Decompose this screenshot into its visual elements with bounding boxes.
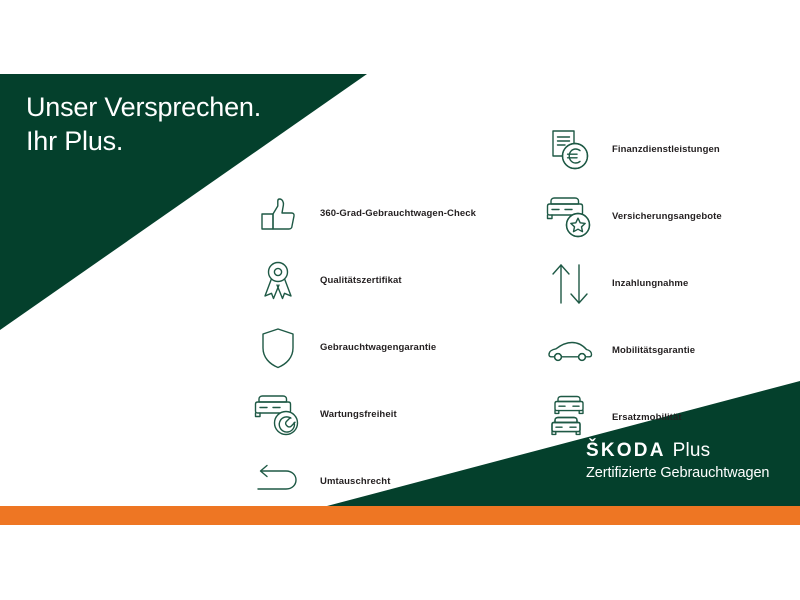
car-star-icon xyxy=(540,193,600,241)
benefit-item: Wartungsfreiheit xyxy=(248,381,476,448)
benefit-label: 360-Grad-Gebrauchtwagen-Check xyxy=(320,208,476,219)
page-title: Unser Versprechen. Ihr Plus. xyxy=(26,90,356,158)
benefit-label: Finanzdienstleistungen xyxy=(612,144,720,155)
skoda-plus-logo: ŠKODA Plus Zertifizierte Gebrauchtwagen xyxy=(586,440,786,481)
return-arrow-icon xyxy=(248,458,308,506)
benefit-item: Finanzdienstleistungen xyxy=(540,116,722,183)
benefit-label: Mobilitätsgarantie xyxy=(612,345,695,356)
car-wrench-icon xyxy=(248,391,308,439)
benefit-label: Wartungsfreiheit xyxy=(320,409,397,420)
shield-icon xyxy=(248,324,308,372)
benefit-label: Versicherungsangebote xyxy=(612,211,722,222)
benefit-label: Qualitätszertifikat xyxy=(320,275,402,286)
logo-suffix: Plus xyxy=(673,440,711,462)
benefit-item: Mobilitätsgarantie xyxy=(540,317,722,384)
benefit-item: Versicherungsangebote xyxy=(540,183,722,250)
benefit-item: Inzahlungnahme xyxy=(540,250,722,317)
benefits-left-column: 360-Grad-Gebrauchtwagen-Check Qualitätsz… xyxy=(248,180,476,515)
logo-tagline: Zertifizierte Gebrauchtwagen xyxy=(586,465,786,481)
headline-line-1: Unser Versprechen. xyxy=(26,90,356,124)
benefit-item: Umtauschrecht xyxy=(248,448,476,515)
two-cars-icon xyxy=(540,394,600,442)
document-euro-icon xyxy=(540,126,600,174)
benefit-label: Gebrauchtwagengarantie xyxy=(320,342,436,353)
benefit-label: Ersatzmobilität xyxy=(612,412,682,423)
benefits-right-column: Finanzdienstleistungen Versicherungsange… xyxy=(540,116,722,451)
benefit-label: Inzahlungnahme xyxy=(612,278,688,289)
benefit-item: Qualitätszertifikat xyxy=(248,247,476,314)
benefit-item: Gebrauchtwagengarantie xyxy=(248,314,476,381)
award-rosette-icon xyxy=(248,257,308,305)
headline-line-2: Ihr Plus. xyxy=(26,124,356,158)
benefit-item: 360-Grad-Gebrauchtwagen-Check xyxy=(248,180,476,247)
logo-top-row: ŠKODA Plus xyxy=(586,440,786,462)
up-down-arrows-icon xyxy=(540,260,600,308)
benefit-label: Umtauschrecht xyxy=(320,476,390,487)
skoda-wordmark: ŠKODA xyxy=(586,440,666,462)
car-side-icon xyxy=(540,327,600,375)
thumbs-up-icon xyxy=(248,190,308,238)
promo-banner: Unser Versprechen. Ihr Plus. 360-Grad-Ge… xyxy=(0,0,800,600)
